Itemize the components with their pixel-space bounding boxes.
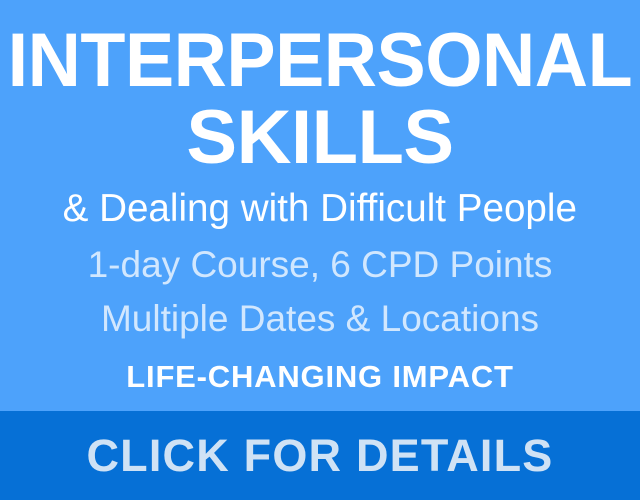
headline-line-1: INTERPERSONAL <box>8 24 632 98</box>
headline-line-2: SKILLS <box>186 100 453 176</box>
detail-dates-locations: Multiple Dates & Locations <box>101 298 539 339</box>
banner-content-panel: INTERPERSONAL SKILLS & Dealing with Diff… <box>0 0 640 411</box>
impact-statement: LIFE-CHANGING IMPACT <box>126 360 513 394</box>
detail-course-info: 1-day Course, 6 CPD Points <box>88 244 553 285</box>
cta-button-label: CLICK FOR DETAILS <box>86 433 553 478</box>
promo-banner: INTERPERSONAL SKILLS & Dealing with Diff… <box>0 0 640 500</box>
banner-subtitle: & Dealing with Difficult People <box>63 188 577 231</box>
cta-button[interactable]: CLICK FOR DETAILS <box>0 411 640 500</box>
